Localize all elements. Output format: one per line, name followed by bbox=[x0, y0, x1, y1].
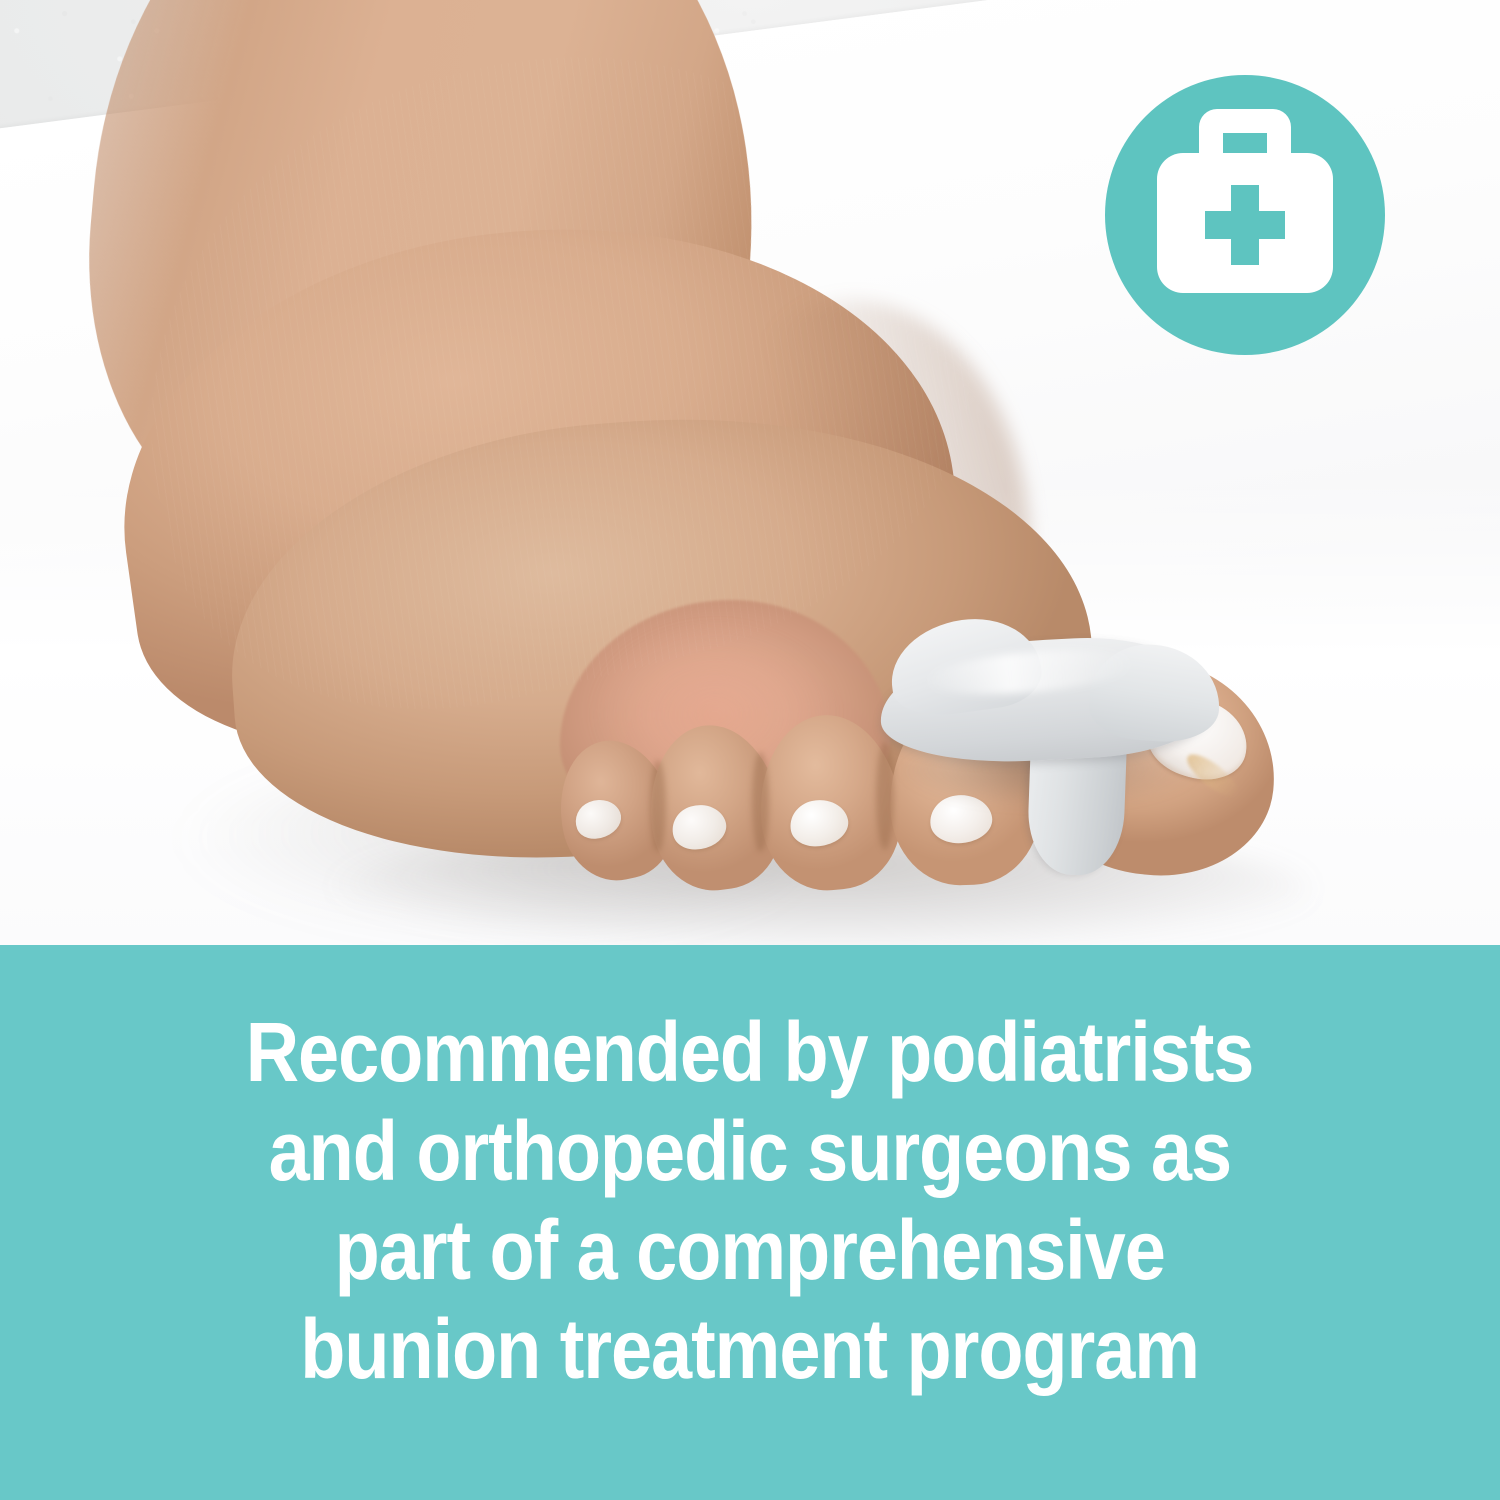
banner-line-1: Recommended by podiatrists bbox=[246, 1003, 1254, 1102]
marketing-banner: Recommended by podiatrists and orthopedi… bbox=[0, 945, 1500, 1500]
toe-crease bbox=[650, 760, 666, 852]
banner-line-2: and orthopedic surgeons as bbox=[269, 1102, 1231, 1201]
product-image-canvas: Recommended by podiatrists and orthopedi… bbox=[0, 0, 1500, 1500]
banner-line-4: bunion treatment program bbox=[301, 1300, 1200, 1399]
product-photo bbox=[0, 0, 1500, 945]
toe-crease bbox=[876, 742, 894, 850]
toe-crease bbox=[752, 752, 769, 852]
medical-kit-badge bbox=[1105, 75, 1385, 355]
banner-line-3: part of a comprehensive bbox=[335, 1201, 1165, 1300]
